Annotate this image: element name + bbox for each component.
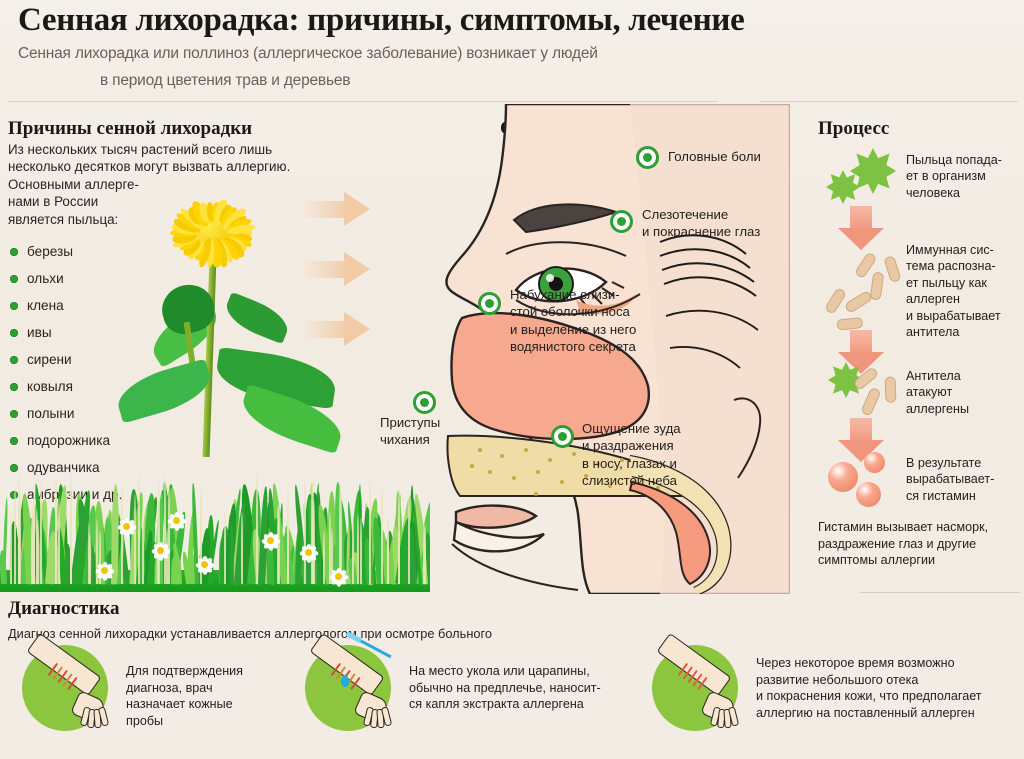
diagnostics-line: Для подтверждения [126, 663, 243, 680]
grass-blade [70, 503, 72, 584]
grass-blade [369, 478, 371, 584]
grass-blade [256, 472, 258, 584]
grass-blade [40, 479, 42, 584]
grass-blade [381, 488, 383, 584]
process-step-text-3: Антитела атакуют аллергены [906, 368, 969, 417]
causes-paragraph-line: Из нескольких тысяч растений всего лишь [8, 141, 320, 158]
symptom-marker-mucosa-icon [478, 292, 501, 315]
symptom-marker-sneezing-icon [413, 391, 436, 414]
fingers-shape [365, 707, 389, 729]
bullet-icon [10, 302, 18, 310]
process-line: Пыльца попада- [906, 152, 1002, 168]
grass-blade [398, 533, 400, 584]
bullet-icon [10, 410, 18, 418]
diagnostics-line: Через некоторое время возможно [756, 655, 982, 672]
transfer-arrow-icon [300, 192, 372, 226]
daisy-flower-icon [196, 556, 213, 573]
header-divider-left [8, 101, 718, 102]
process-footer-line: Гистамин вызывает насморк, [818, 519, 1018, 536]
pollen-star-icon [850, 148, 896, 194]
transfer-arrow-icon [300, 252, 372, 286]
diagnostics-heading: Диагностика [8, 598, 119, 620]
process-step-text-4: В результате вырабатывает- ся гистамин [906, 455, 994, 504]
process-line: вырабатывает- [906, 471, 994, 487]
process-line: ет в организм [906, 168, 1002, 184]
grass-blade [387, 531, 389, 584]
list-item: ивы [10, 319, 200, 346]
grass-blade [37, 520, 39, 584]
diagnostics-line: обычно на предплечье, наносит- [409, 680, 601, 697]
process-line: антитела [906, 324, 1001, 340]
process-step-text-1: Пыльца попада- ет в организм человека [906, 152, 1002, 201]
allergen-label: ольхи [27, 271, 64, 286]
list-item: сирени [10, 346, 200, 373]
diagnostics-line: назначает кожные [126, 696, 243, 713]
causes-heading: Причины сенной лихорадки [8, 118, 252, 140]
diagnostics-line: и покраснения кожи, что предполагает [756, 688, 982, 705]
transfer-arrow-icon [300, 312, 372, 346]
causes-paragraph-line: несколько десятков могут вызвать аллерги… [8, 158, 320, 175]
allergen-label: березы [27, 244, 73, 259]
daisy-flower-icon [300, 544, 317, 561]
diagnostics-card-text: На место укола или царапины, обычно на п… [409, 663, 601, 713]
process-footer-text: Гистамин вызывает насморк, раздражение г… [818, 519, 1018, 569]
grass-illustration [0, 470, 430, 592]
grass-blade [10, 513, 12, 584]
symptom-marker-itching-icon [551, 425, 574, 448]
symptom-line: Слезотечение [642, 206, 760, 223]
grass-blade [360, 518, 362, 584]
bullet-icon [10, 329, 18, 337]
fingers-shape [82, 707, 106, 729]
histamine-sphere-icon [864, 452, 885, 473]
allergen-drop-icon [341, 675, 349, 687]
process-line: ет пыльцу как [906, 275, 1001, 291]
daisy-flower-icon [330, 568, 347, 585]
symptom-label-itching: Ощущение зуда и раздражения в носу, глаз… [582, 420, 681, 490]
list-item: березы [10, 238, 200, 265]
header: Сенная лихорадка: причины, симптомы, леч… [0, 0, 1024, 100]
diagnostics-line: аллергию на поставленный аллерген [756, 705, 982, 722]
allergen-label: ковыля [27, 379, 73, 394]
subtitle-line-1: Сенная лихорадка или поллиноз (аллергиче… [18, 45, 598, 63]
symptom-line: и выделение из него [510, 321, 636, 338]
diagnostics-line: На место укола или царапины, [409, 663, 601, 680]
process-step-text-2: Иммунная сис- тема распозна- ет пыльцу к… [906, 242, 1001, 340]
process-line: В результате [906, 455, 994, 471]
bullet-icon [10, 383, 18, 391]
grass-blade [18, 487, 20, 584]
syringe-needle-icon [358, 639, 391, 659]
diagnostics-line: пробы [126, 713, 243, 730]
symptom-line: Набухание слизи- [510, 286, 636, 303]
grass-blade [33, 487, 35, 584]
arm-reaction-icon [652, 645, 738, 731]
page-title: Сенная лихорадка: причины, симптомы, леч… [18, 2, 744, 39]
process-heading: Процесс [818, 118, 889, 140]
symptom-marker-headache-icon [636, 146, 659, 169]
symptom-line: чихания [380, 431, 440, 448]
bullet-icon [10, 275, 18, 283]
header-divider-right [760, 101, 1018, 102]
symptom-line: слизистой неба [582, 472, 681, 489]
daisy-flower-icon [168, 512, 185, 529]
diagnostics-line: ся капля экстракта аллергена [409, 696, 601, 713]
symptom-line: в носу, глазах и [582, 455, 681, 472]
grass-blade [357, 513, 359, 584]
diagnostics-divider-right [860, 592, 1020, 593]
process-down-arrow-icon [838, 206, 884, 250]
symptom-line: Головные боли [668, 148, 761, 165]
leaf-icon [221, 292, 293, 345]
stem-icon [203, 257, 217, 457]
symptom-line: и покраснение глаз [642, 223, 760, 240]
diagnostics-card-text: Через некоторое время возможно развитие … [756, 655, 982, 721]
process-line: тема распозна- [906, 258, 1001, 274]
arm-injection-icon [305, 645, 391, 731]
fingers-shape [712, 707, 736, 729]
list-item: полыни [10, 400, 200, 427]
allergen-list: березы ольхи клена ивы сирени ковыля пол… [10, 238, 200, 508]
allergen-label: полыни [27, 406, 74, 421]
process-line: аллерген [906, 291, 1001, 307]
symptom-label-sneezing: Приступы чихания [380, 414, 440, 449]
list-item: ольхи [10, 265, 200, 292]
process-line: человека [906, 185, 1002, 201]
symptom-line: Ощущение зуда [582, 420, 681, 437]
grass-blade [14, 484, 16, 585]
bullet-icon [10, 248, 18, 256]
allergen-label: подорожника [27, 433, 110, 448]
process-line: и вырабатывает [906, 308, 1001, 324]
allergen-label: клена [27, 298, 64, 313]
histamine-sphere-icon [828, 462, 858, 492]
grass-blade [304, 479, 306, 584]
symptom-line: и раздражения [582, 437, 681, 454]
process-footer-line: раздражение глаз и другие [818, 536, 1018, 553]
process-line: ся гистамин [906, 488, 994, 504]
daisy-flower-icon [262, 532, 279, 549]
infographic-root: Сенная лихорадка: причины, симптомы, леч… [0, 0, 1024, 759]
allergen-label: сирени [27, 352, 72, 367]
grass-blade [323, 530, 325, 584]
subtitle-line-2: в период цветения трав и деревьев [100, 72, 350, 90]
process-line: Антитела [906, 368, 969, 384]
symptom-label-mucosa-swelling: Набухание слизи- стой оболочки носа и вы… [510, 286, 636, 356]
diagnostics-card-text: Для подтверждения диагноза, врач назнача… [126, 663, 243, 729]
list-item: подорожника [10, 427, 200, 454]
symptom-label-tearing: Слезотечение и покраснение глаз [642, 206, 760, 241]
daisy-flower-icon [96, 562, 113, 579]
process-line: атакуют [906, 384, 969, 400]
list-item: клена [10, 292, 200, 319]
diagnostics-subtitle: Диагноз сенной лихорадки устанавливается… [8, 626, 492, 641]
diagnostics-line: диагноза, врач [126, 680, 243, 697]
process-line: Иммунная сис- [906, 242, 1001, 258]
symptom-label-headache: Головные боли [668, 148, 761, 165]
symptom-line: стой оболочки носа [510, 303, 636, 320]
symptom-line: Приступы [380, 414, 440, 431]
arm-skin-test-icon [22, 645, 108, 731]
grass-blade [55, 477, 57, 584]
process-footer-line: симптомы аллергии [818, 552, 1018, 569]
symptom-line: водянистого секрета [510, 338, 636, 355]
pollen-star-icon [826, 170, 860, 204]
histamine-sphere-icon [856, 482, 881, 507]
grass-blade [138, 473, 140, 584]
daisy-flower-icon [152, 542, 169, 559]
grass-blade [0, 550, 7, 584]
allergen-label: ивы [27, 325, 52, 340]
bullet-icon [10, 356, 18, 364]
diagnostics-line: развитие небольшого отека [756, 672, 982, 689]
process-line: аллергены [906, 401, 969, 417]
list-item: ковыля [10, 373, 200, 400]
symptom-marker-tearing-icon [610, 210, 633, 233]
daisy-flower-icon [118, 518, 135, 535]
bullet-icon [10, 437, 18, 445]
